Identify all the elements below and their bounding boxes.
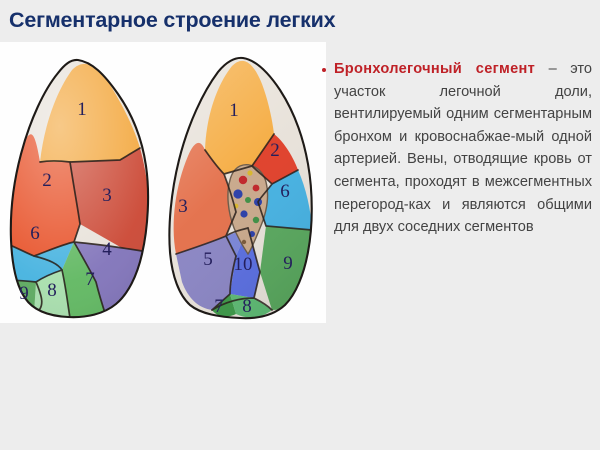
left-label-8: 8 xyxy=(47,280,57,301)
right-label-5: 5 xyxy=(203,249,213,270)
right-label-10: 10 xyxy=(234,254,253,275)
right-label-6: 6 xyxy=(280,181,290,202)
lungs-diagram-image: 1 2 3 4 6 7 8 9 1 2 3 5 6 7 8 9 10 xyxy=(0,42,326,323)
left-label-3: 3 xyxy=(102,185,112,206)
right-label-1: 1 xyxy=(229,100,239,121)
right-label-3: 3 xyxy=(178,196,188,217)
left-label-4: 4 xyxy=(102,239,112,260)
left-label-6: 6 xyxy=(30,223,40,244)
figure-panel: 1 2 3 4 6 7 8 9 1 2 3 5 6 7 8 9 10 xyxy=(0,42,326,323)
segment-definition-paragraph: Бронхолегочный сегмент – это участок лег… xyxy=(334,58,592,239)
right-label-7: 7 xyxy=(214,296,224,317)
left-label-1: 1 xyxy=(77,99,87,120)
left-label-9: 9 xyxy=(19,283,29,304)
page-title: Сегментарное строение легких xyxy=(9,5,589,37)
definition-term: Бронхолегочный сегмент xyxy=(334,61,535,77)
definition-body: – это участок легочной доли, вентилируем… xyxy=(334,61,592,235)
right-label-2: 2 xyxy=(270,140,280,161)
right-label-9: 9 xyxy=(283,253,293,274)
right-label-8: 8 xyxy=(242,296,252,317)
slide-root: Сегментарное строение легких xyxy=(0,0,600,450)
left-label-7: 7 xyxy=(85,269,95,290)
content-text-column: Бронхолегочный сегмент – это участок лег… xyxy=(320,58,592,318)
left-label-2: 2 xyxy=(42,170,52,191)
bullet-marker-icon xyxy=(322,68,326,72)
